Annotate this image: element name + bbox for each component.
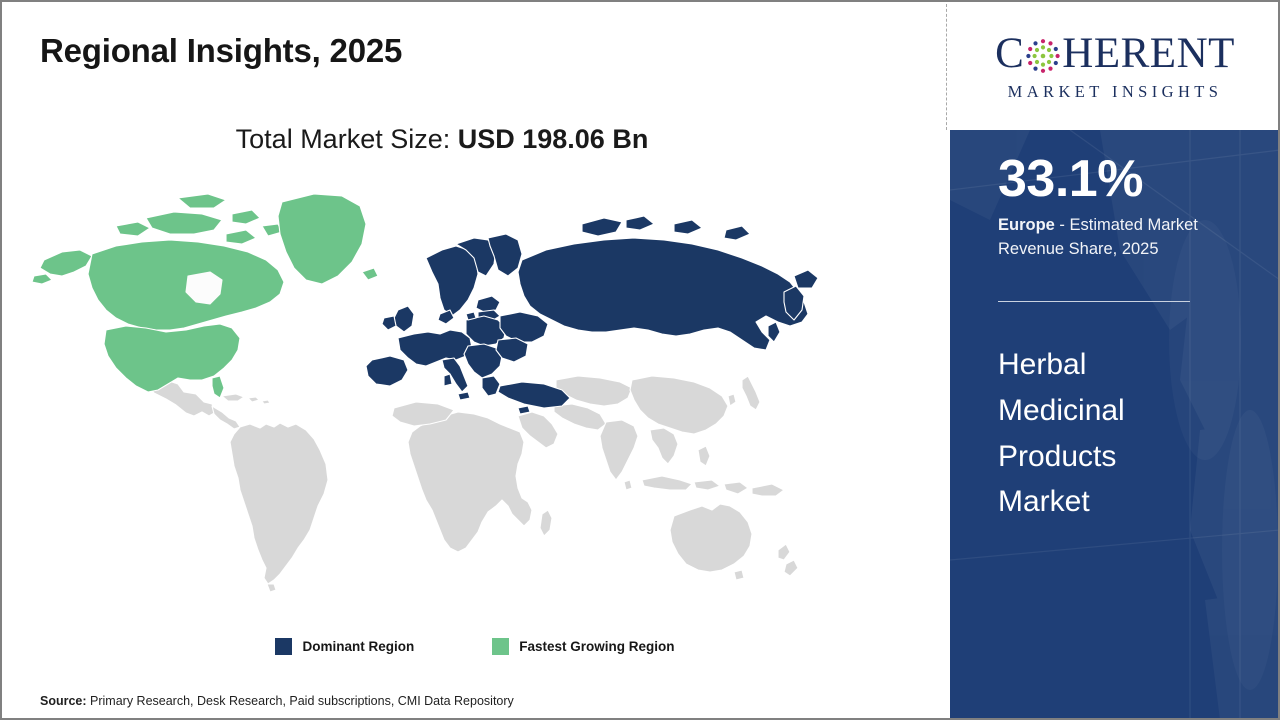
side-panel: 33.1% Europe - Estimated Market Revenue …	[950, 130, 1280, 720]
legend-swatch-dominant-icon	[275, 638, 292, 655]
source-label: Source:	[40, 694, 87, 708]
logo-letter-c: C	[995, 32, 1024, 75]
logo-tagline: MARKET INSIGHTS	[1008, 82, 1223, 102]
map-region-fastest-growing	[32, 194, 378, 398]
world-map-svg	[26, 180, 826, 620]
share-region-name: Europe	[998, 216, 1055, 234]
panel-divider	[998, 301, 1190, 302]
total-market-size-label: Total Market Size:	[236, 124, 458, 154]
map-region-inactive	[146, 376, 798, 592]
brand-logo[interactable]: C	[950, 4, 1280, 130]
map-legend: Dominant Region Fastest Growing Region	[2, 638, 948, 655]
share-caption: Europe - Estimated Market Revenue Share,…	[998, 214, 1230, 262]
legend-item-dominant: Dominant Region	[275, 638, 414, 655]
world-map[interactable]	[26, 180, 826, 620]
total-market-size-value: USD 198.06 Bn	[458, 124, 649, 154]
logo-wordmark: C	[995, 32, 1235, 75]
legend-label-fastest-growing: Fastest Growing Region	[519, 639, 674, 654]
source-note: Source: Primary Research, Desk Research,…	[40, 694, 514, 708]
logo-letters-herent: HERENT	[1062, 32, 1235, 75]
vertical-divider	[946, 4, 947, 130]
market-name: Herbal Medicinal Products Market	[998, 342, 1213, 524]
regional-insights-infographic: Regional Insights, 2025 Total Market Siz…	[0, 0, 1280, 720]
total-market-size: Total Market Size: USD 198.06 Bn	[2, 124, 882, 155]
panel-content: 33.1% Europe - Estimated Market Revenue …	[950, 152, 1280, 525]
legend-item-fastest-growing: Fastest Growing Region	[492, 638, 674, 655]
share-value: 33.1%	[998, 152, 1232, 207]
source-text: Primary Research, Desk Research, Paid su…	[87, 694, 514, 708]
globe-dots-icon	[1025, 38, 1061, 74]
map-panel: Regional Insights, 2025 Total Market Siz…	[2, 2, 948, 718]
legend-swatch-fastest-growing-icon	[492, 638, 509, 655]
legend-label-dominant: Dominant Region	[302, 639, 414, 654]
page-title: Regional Insights, 2025	[40, 32, 402, 70]
